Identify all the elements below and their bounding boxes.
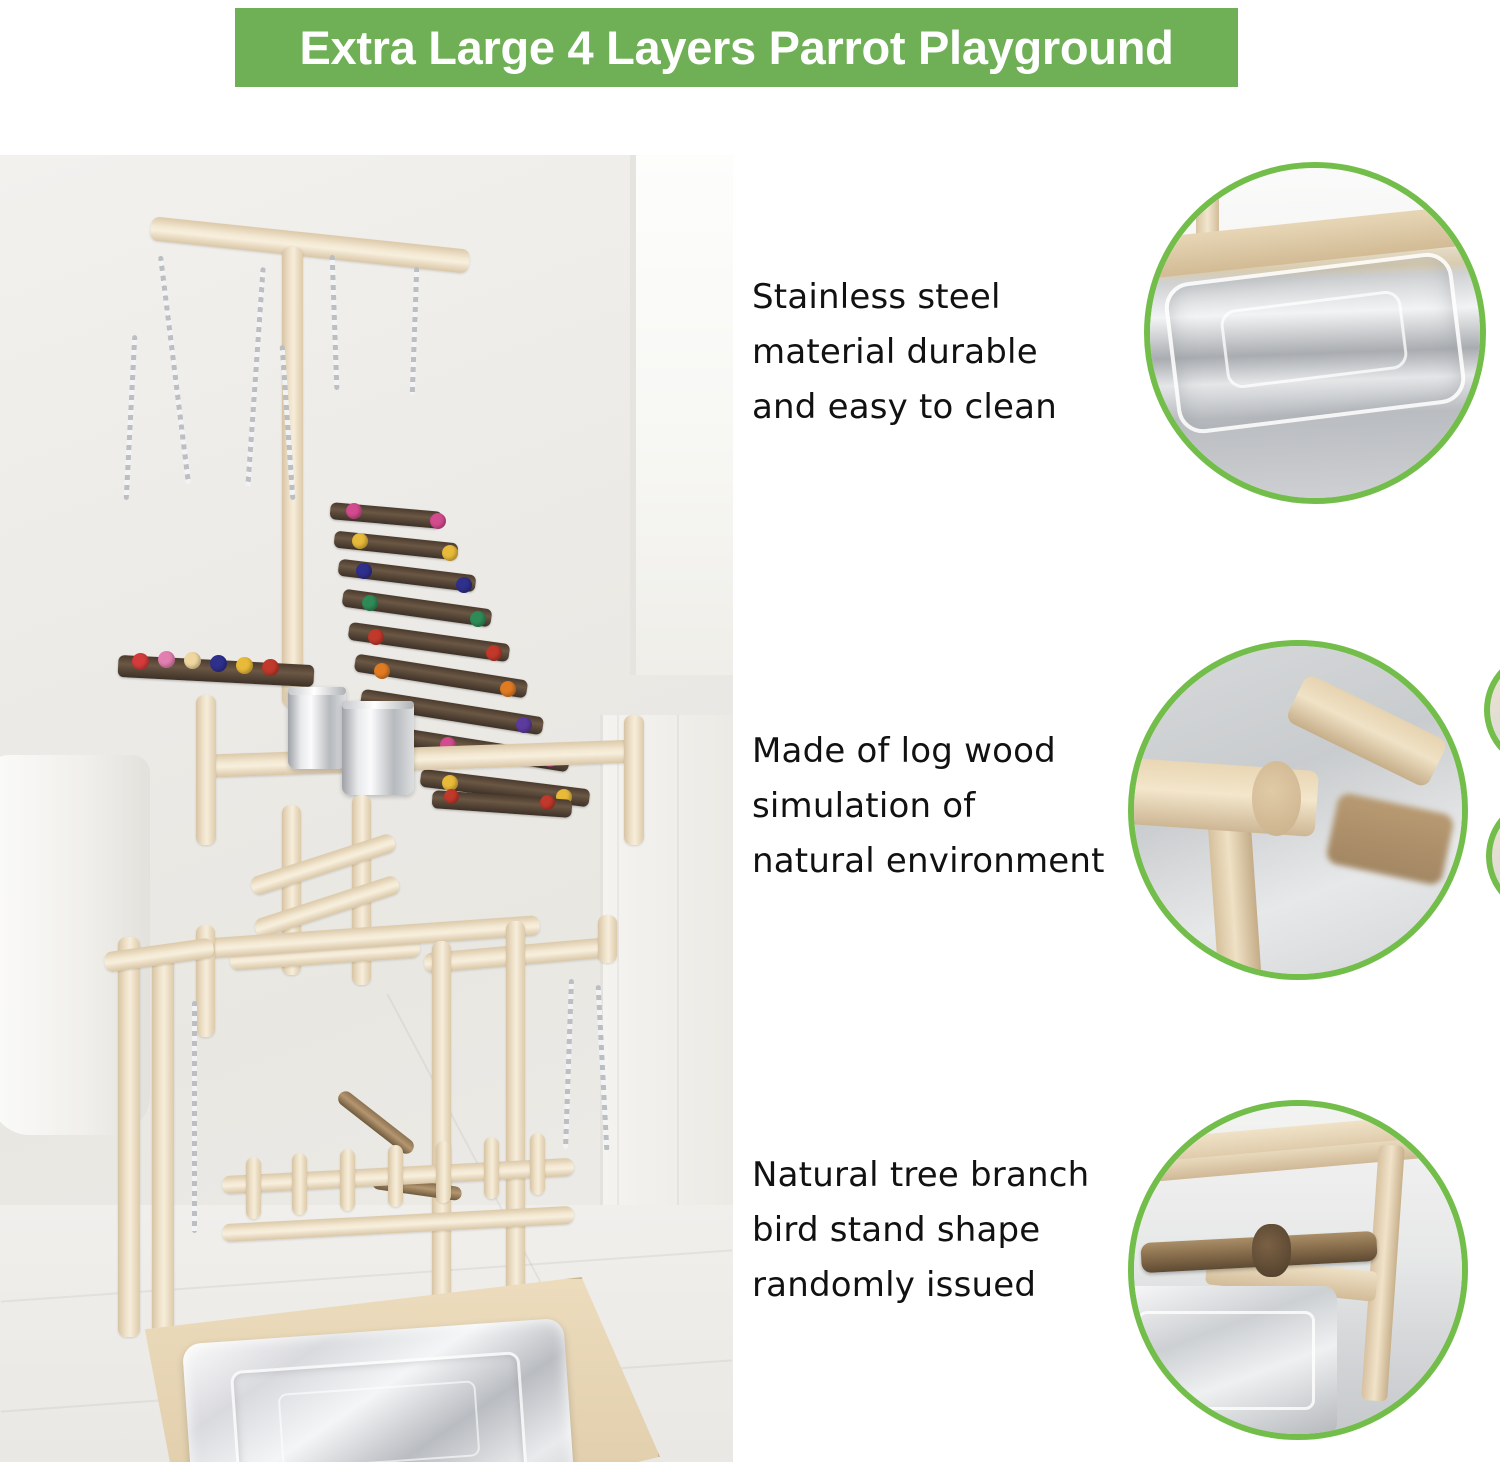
lower-ladder-rung xyxy=(340,1149,355,1211)
lower-ladder-rung xyxy=(436,1141,451,1203)
ladder-bead xyxy=(444,789,459,804)
feature-text-log-wood: Made of log wood simulation of natural e… xyxy=(752,724,1132,889)
lower-ladder-rung xyxy=(530,1133,545,1195)
feature-line: Natural tree branch xyxy=(752,1148,1152,1203)
ladder-bead xyxy=(368,629,384,645)
frame-post xyxy=(432,941,451,1331)
upper-perch-post-right xyxy=(624,715,644,845)
swing-bead xyxy=(132,653,149,670)
branch-photo-branch-knot xyxy=(1252,1224,1291,1276)
stainless-steel-tray xyxy=(182,1318,576,1462)
natural-branch-perch xyxy=(335,1088,417,1156)
ladder-bead xyxy=(374,663,390,679)
feature-line: and easy to clean xyxy=(752,380,1132,435)
upper-perch-post-left xyxy=(196,695,216,845)
hanging-chain-right xyxy=(563,979,574,1149)
swing-bead xyxy=(262,659,279,676)
swing-bead xyxy=(158,651,175,668)
swing-chain xyxy=(124,335,138,500)
room-window xyxy=(630,155,733,675)
feature-line: bird stand shape xyxy=(752,1203,1152,1258)
leg-back-left xyxy=(152,955,174,1345)
detail-photo-partial-bottom xyxy=(1486,796,1500,916)
hanging-chain-left xyxy=(192,1001,197,1233)
lower-ladder-rung xyxy=(388,1145,403,1207)
header-banner: Extra Large 4 Layers Parrot Playground xyxy=(235,8,1238,87)
ladder-bead xyxy=(356,563,372,579)
swing-bead xyxy=(210,655,227,672)
feature-line: Stainless steel xyxy=(752,270,1132,325)
ladder-bead xyxy=(352,533,368,549)
ladder-bead xyxy=(362,595,378,611)
main-product-photo xyxy=(0,155,733,1462)
feature-line: material durable xyxy=(752,325,1132,380)
ladder-bead xyxy=(540,795,555,810)
feature-text-stainless-steel: Stainless steel material durable and eas… xyxy=(752,270,1132,435)
detail-photo-partial-top xyxy=(1484,650,1500,770)
feeding-cup-left xyxy=(288,687,346,769)
ladder-bead xyxy=(430,513,446,529)
frame-post xyxy=(506,921,525,1321)
ladder-bead xyxy=(500,681,516,697)
swing-chain xyxy=(158,256,191,485)
ladder-chain xyxy=(330,255,340,390)
feature-line: Made of log wood xyxy=(752,724,1132,779)
ladder-bead xyxy=(516,717,532,733)
detail-photo-natural-branch xyxy=(1128,1100,1468,1440)
swing-chain xyxy=(245,267,265,487)
joint-photo-vertical-log xyxy=(1207,809,1262,980)
feature-line: simulation of xyxy=(752,779,1132,834)
feeding-cup-right xyxy=(342,701,414,795)
detail-photo-stainless-tray xyxy=(1144,162,1486,504)
detail-photo-log-joint xyxy=(1128,640,1468,980)
lower-ladder-rung xyxy=(246,1157,261,1219)
ladder-bead xyxy=(442,545,458,561)
frame-post xyxy=(598,915,617,963)
leg-front-left xyxy=(118,937,140,1337)
feature-text-natural-branch: Natural tree branch bird stand shape ran… xyxy=(752,1148,1152,1313)
lower-ladder-rung xyxy=(292,1153,307,1215)
branch-photo-tray xyxy=(1128,1286,1337,1437)
top-crossbar xyxy=(150,216,471,273)
swing-bead xyxy=(184,652,201,669)
tray-inner-ridge-2 xyxy=(277,1381,480,1462)
lower-ladder-rung xyxy=(484,1137,499,1199)
ladder-chain xyxy=(410,267,419,395)
swing-bead xyxy=(236,657,253,674)
feature-line: randomly issued xyxy=(752,1258,1152,1313)
ladder-bead xyxy=(486,645,502,661)
ladder-bead xyxy=(470,611,486,627)
feature-line: natural environment xyxy=(752,834,1132,889)
joint-photo-background-branch xyxy=(1325,792,1456,887)
joint-photo-log-end-cap xyxy=(1252,761,1301,836)
page-title: Extra Large 4 Layers Parrot Playground xyxy=(299,24,1173,71)
ladder-bead xyxy=(346,503,362,519)
ladder-rung xyxy=(333,531,458,561)
ladder-bead xyxy=(456,577,472,593)
